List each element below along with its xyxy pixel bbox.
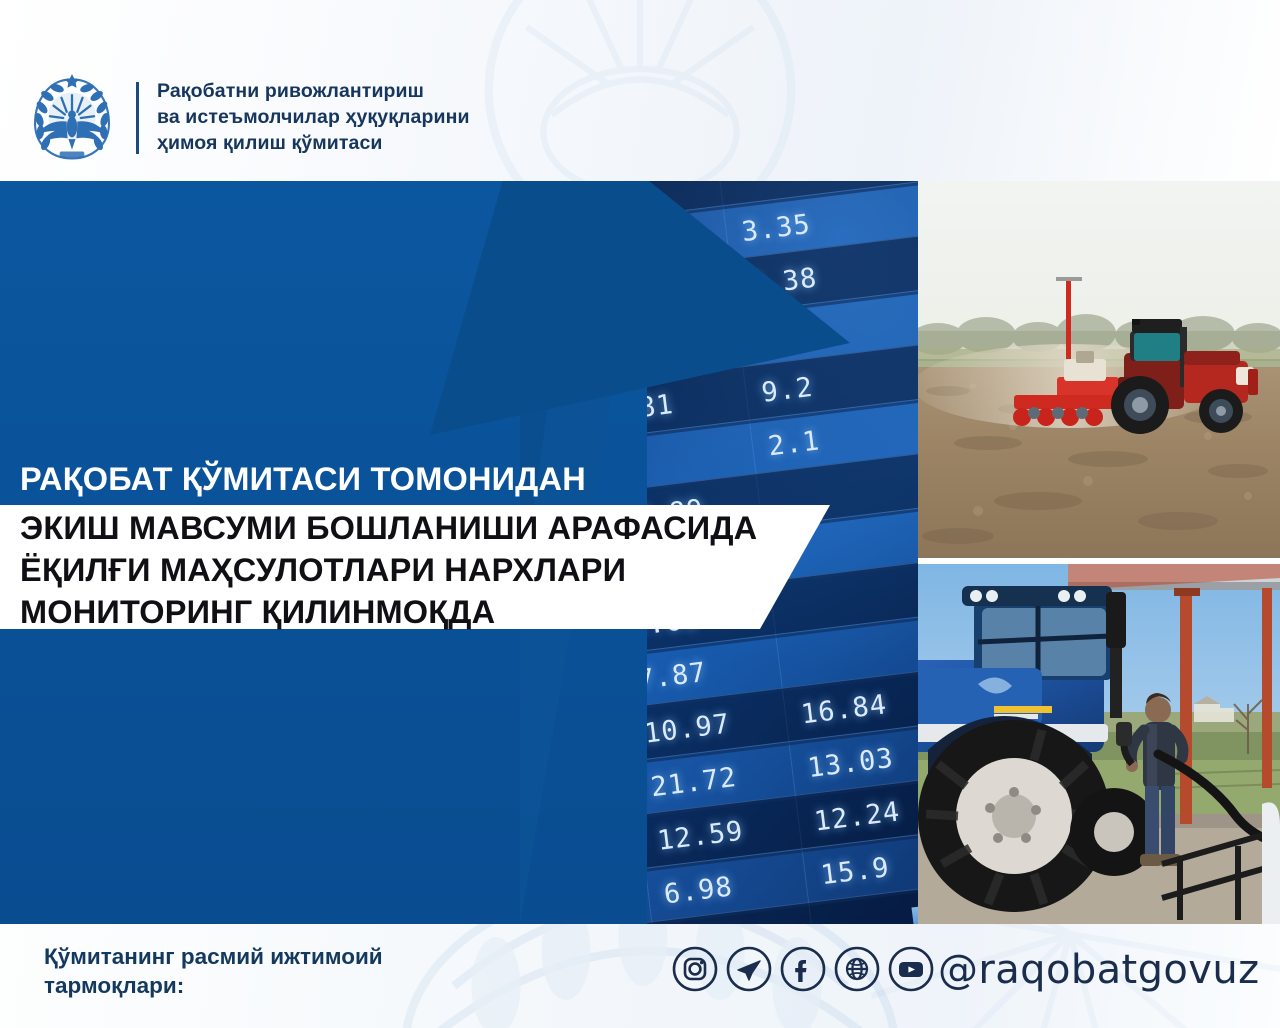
ticker-value: 12.24 bbox=[812, 796, 901, 837]
page-footer: Қўмитанинг расмий ижтимоий тармоқлари: bbox=[0, 924, 1280, 1028]
social-handle[interactable]: @raqobatgovuz bbox=[938, 947, 1260, 993]
instagram-icon[interactable] bbox=[672, 946, 718, 992]
organization-name: Рақобатни ривожлантириш ва истеъмолчилар… bbox=[157, 79, 470, 156]
facebook-icon[interactable] bbox=[780, 946, 826, 992]
telegram-icon[interactable] bbox=[726, 946, 772, 992]
youtube-icon[interactable] bbox=[888, 946, 934, 992]
page-header: Рақобатни ривожлантириш ва истеъмолчилар… bbox=[0, 0, 1280, 181]
social-links bbox=[672, 946, 934, 992]
headline-body: ЭКИШ МАВСУМИ БОШЛАНИШИ АРАФАСИДА ЁҚИЛҒИ … bbox=[20, 508, 757, 633]
header-brand: Рақобатни ривожлантириш ва истеъмолчилар… bbox=[28, 72, 470, 164]
emblem-watermark-icon bbox=[430, 0, 850, 181]
headline-line-1: РАҚОБАТ ҚЎМИТАСИ ТОМОНИДАН bbox=[20, 461, 586, 498]
blue-tractor-refueling-photo bbox=[918, 564, 1280, 924]
red-tractor-seeding-field-photo bbox=[918, 181, 1280, 558]
poster-canvas: 5.150.4114.863.3512.285.388.971.67.458.8… bbox=[0, 0, 1280, 1028]
ticker-value: 15.9 bbox=[819, 852, 891, 891]
uzbekistan-coat-of-arms-icon bbox=[28, 72, 116, 164]
header-divider bbox=[136, 82, 139, 154]
website-globe-icon[interactable] bbox=[834, 946, 880, 992]
photo-column bbox=[918, 181, 1280, 924]
social-networks-label: Қўмитанинг расмий ижтимоий тармоқлари: bbox=[44, 942, 383, 1001]
